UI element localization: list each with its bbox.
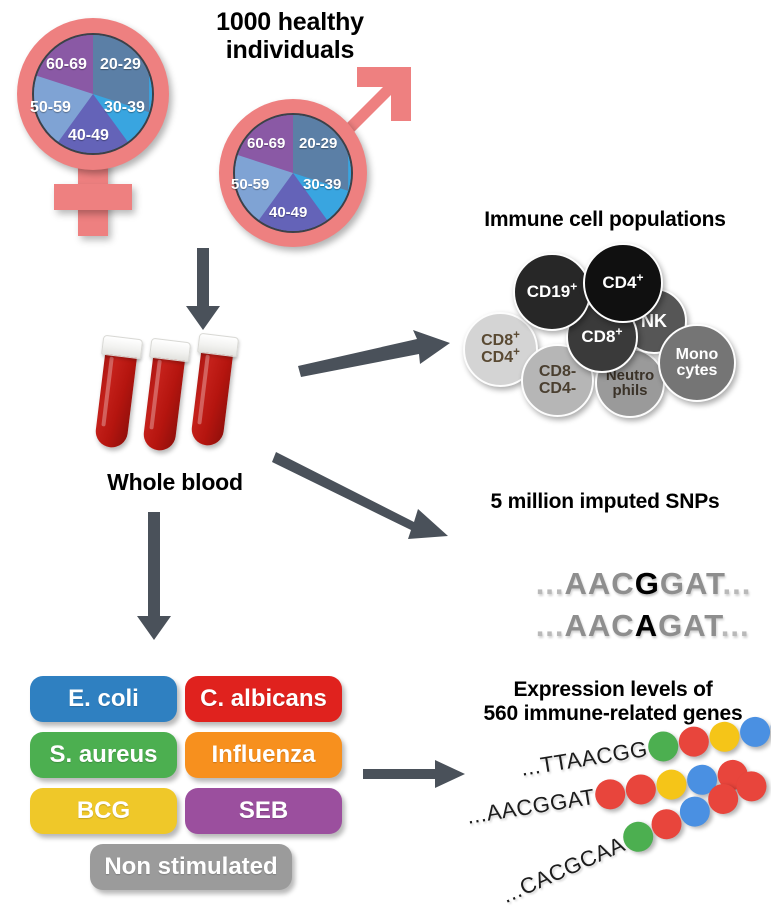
whole-blood-tubes: [100, 340, 290, 460]
stimulation-pill-e-coli[interactable]: E. coli: [30, 676, 177, 722]
monocytes-line2: cytes: [677, 362, 718, 379]
snp-suffix: ...: [721, 608, 750, 643]
immune-bubble-monocytes: Mono cytes: [658, 324, 736, 402]
blood-tube: [94, 346, 138, 449]
female-cross-horizontal: [54, 184, 132, 210]
stimulation-label: SEB: [239, 797, 288, 825]
stimulation-label: Non stimulated: [104, 853, 277, 881]
expression-bead: [677, 724, 711, 758]
cd4-label: CD4: [602, 273, 636, 292]
plus-sign: +: [570, 280, 577, 294]
neutrophils-line2: phils: [612, 382, 647, 399]
stimulation-pill-s-aureus[interactable]: S. aureus: [30, 732, 177, 778]
blood-tube-body: [142, 349, 186, 452]
strand-sequence: ...CACGCAA: [498, 831, 629, 908]
female-label-30-39: 30-39: [104, 99, 145, 117]
cd8-cd4-pos-line2: CD4: [481, 349, 513, 366]
immune-bubble-cd4pos: CD4+: [583, 243, 663, 323]
snp-sequence-row: ...AACAGAT...: [478, 572, 750, 680]
blood-tube-body: [94, 346, 138, 449]
stimulation-label: BCG: [77, 797, 130, 825]
male-label-40-49: 40-49: [269, 204, 307, 221]
plus-sign: +: [615, 325, 622, 339]
arrow-to-expression: [363, 758, 467, 792]
snp-right: GAT: [658, 608, 721, 643]
blood-tube-highlight: [102, 357, 114, 427]
cd8-label: CD8: [581, 327, 615, 346]
blood-tube: [190, 344, 234, 447]
arrow-down-to-stimulation: [133, 512, 175, 644]
blood-tube-highlight: [150, 360, 162, 430]
stimulation-pill-non-stimulated[interactable]: Non stimulated: [90, 844, 292, 890]
stimulation-label: S. aureus: [49, 741, 157, 769]
expression-bead: [593, 777, 627, 811]
expression-title-line1: Expression levels of: [458, 678, 768, 702]
snp-prefix: ...: [536, 608, 565, 643]
stimulation-label: E. coli: [68, 685, 139, 713]
plus-sign: +: [513, 330, 520, 342]
blood-tube-body: [190, 344, 234, 447]
stimulation-label: C. albicans: [200, 685, 327, 713]
arrow-to-immune-cells: [296, 330, 452, 378]
snp-sequences: ...AACGGAT... ...AACAGAT...: [470, 530, 750, 620]
expression-bead: [646, 729, 680, 763]
immune-bubble-cd19pos: CD19+: [513, 253, 591, 331]
arrow-to-snps: [276, 440, 456, 544]
male-label-30-39: 30-39: [303, 176, 341, 193]
stimulation-label: Influenza: [211, 741, 315, 769]
expression-bead: [655, 767, 689, 801]
female-label-20-29: 20-29: [100, 56, 141, 74]
female-gender-symbol: 20-29 30-39 40-49 50-59 60-69: [12, 14, 187, 239]
snp-variant-allele: A: [635, 608, 658, 643]
stimulation-pill-bcg[interactable]: BCG: [30, 788, 177, 834]
immune-title: Immune cell populations: [455, 208, 755, 232]
stimulation-pill-c-albicans[interactable]: C. albicans: [185, 676, 342, 722]
expression-bead: [624, 772, 658, 806]
cd19-label: CD19: [527, 282, 570, 301]
plus-sign: +: [513, 346, 520, 358]
arrow-down-to-blood: [182, 248, 224, 334]
stimulation-pill-seb[interactable]: SEB: [185, 788, 342, 834]
cd8-cd4-pos-line1: CD8: [481, 332, 513, 349]
cohort-title-line1: 1000 healthy: [170, 8, 410, 36]
snp-left: AAC: [565, 608, 635, 643]
monocytes-line1: Mono: [676, 346, 719, 363]
male-label-60-69: 60-69: [247, 135, 285, 152]
female-label-50-59: 50-59: [30, 99, 71, 117]
male-gender-symbol: 20-29 30-39 40-49 50-59 60-69: [205, 55, 420, 250]
expression-bead: [707, 720, 741, 754]
whole-blood-label: Whole blood: [75, 470, 275, 496]
blood-tube-highlight: [198, 355, 210, 425]
snps-title: 5 million imputed SNPs: [455, 490, 755, 514]
expression-title: Expression levels of 560 immune-related …: [458, 678, 768, 725]
immune-cell-cluster: CD8+ CD4+ CD8- CD4- Neutro phils NK Mono…: [455, 240, 755, 420]
female-label-60-69: 60-69: [46, 56, 87, 74]
figure-canvas: 1000 healthy individuals 20-29 30-39 40-…: [0, 0, 771, 922]
expression-strands: ...TTAACGG ...AACGGAT ...CACGCAA: [455, 730, 771, 915]
plus-sign: +: [636, 271, 643, 285]
blood-tube: [142, 349, 186, 452]
strand-sequence: ...AACGGAT: [465, 784, 597, 830]
stimulation-panel: E. coli C. albicans S. aureus Influenza …: [30, 676, 360, 896]
female-label-40-49: 40-49: [68, 127, 109, 145]
expression-bead: [738, 715, 771, 749]
male-label-20-29: 20-29: [299, 135, 337, 152]
stimulation-pill-influenza[interactable]: Influenza: [185, 732, 342, 778]
male-label-50-59: 50-59: [231, 176, 269, 193]
cd8-cd4-neg-line2: CD4-: [539, 380, 576, 397]
cd8-cd4-neg-line1: CD8-: [539, 363, 576, 380]
